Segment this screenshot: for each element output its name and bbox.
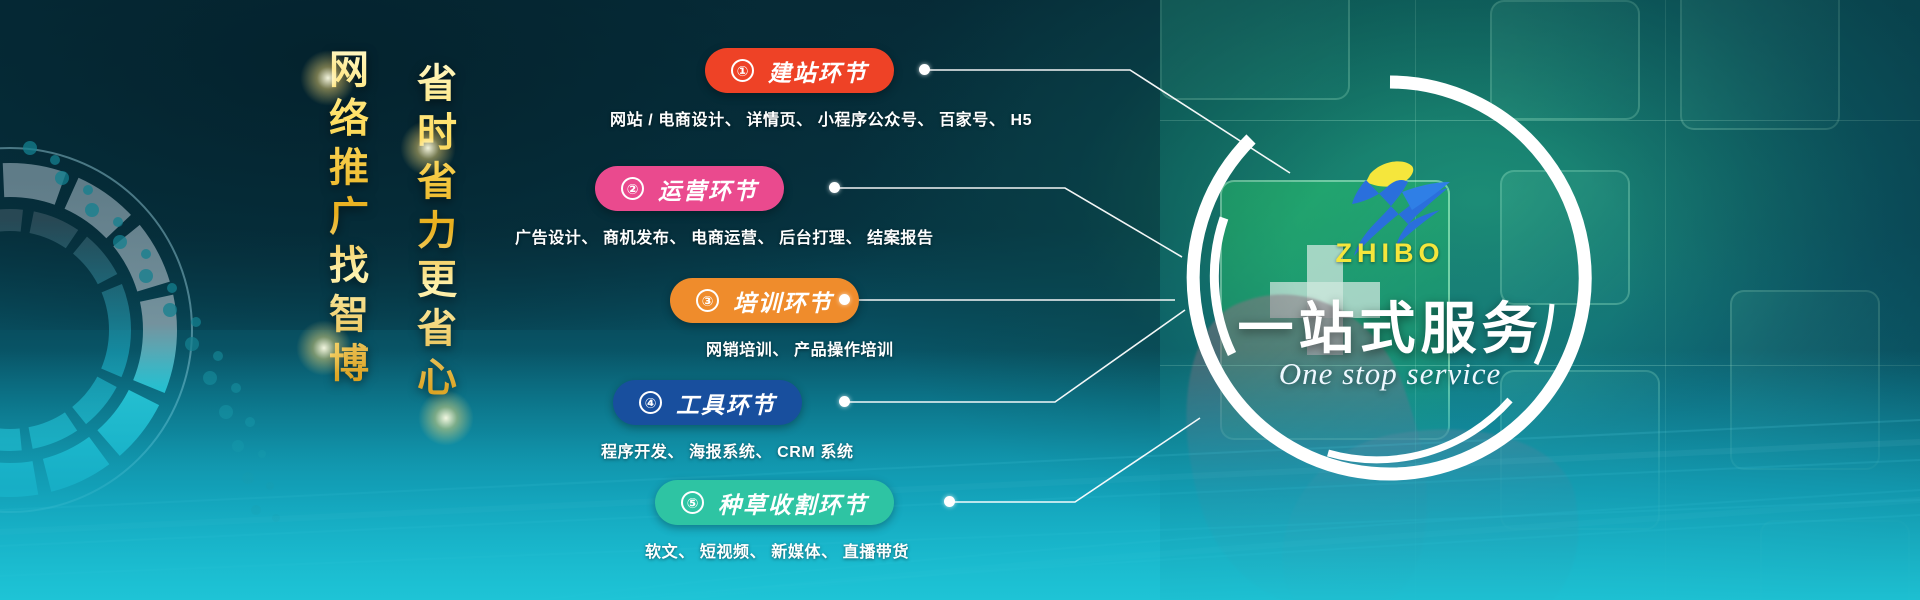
brand-text: ZHIBO — [1180, 238, 1600, 269]
step-badge-4[interactable]: ④ 工具环节 — [613, 380, 802, 425]
steps-stage: ① 建站环节 网站 / 电商设计、 详情页、 小程序公众号、 百家号、 H5 ②… — [0, 0, 1920, 600]
step-label-1: 建站环节 — [768, 54, 868, 88]
step-label-3: 培训环节 — [733, 284, 833, 318]
step-sub-2: 广告设计、 商机发布、 电商运营、 后台打理、 结案报告 — [515, 224, 934, 248]
step-item-3[interactable]: ③ 培训环节 网销培训、 产品操作培训 — [670, 278, 894, 360]
step-sub-5: 软文、 短视频、 新媒体、 直播带货 — [645, 538, 909, 562]
hub-title-en: One stop service — [1180, 356, 1600, 392]
step-item-4[interactable]: ④ 工具环节 程序开发、 海报系统、 CRM 系统 — [613, 380, 854, 462]
step-number-3: ③ — [696, 289, 719, 312]
step-sub-1: 网站 / 电商设计、 详情页、 小程序公众号、 百家号、 H5 — [610, 106, 1032, 130]
step-sub-4: 程序开发、 海报系统、 CRM 系统 — [601, 438, 854, 462]
connector-dot-5 — [944, 496, 955, 507]
step-label-2: 运营环节 — [658, 172, 758, 206]
step-badge-2[interactable]: ② 运营环节 — [595, 166, 784, 211]
connector-dot-1 — [919, 64, 930, 75]
hub-ring — [1180, 68, 1600, 488]
step-number-5: ⑤ — [681, 491, 704, 514]
connector-dot-4 — [839, 396, 850, 407]
hub-title-cn: 一站式服务 — [1180, 284, 1600, 365]
step-number-4: ④ — [639, 391, 662, 414]
step-item-5[interactable]: ⑤ 种草收割环节 软文、 短视频、 新媒体、 直播带货 — [655, 480, 909, 562]
step-label-5: 种草收割环节 — [718, 486, 868, 520]
step-number-2: ② — [621, 177, 644, 200]
step-sub-3: 网销培训、 产品操作培训 — [706, 336, 894, 360]
step-badge-5[interactable]: ⑤ 种草收割环节 — [655, 480, 894, 525]
connector-dot-2 — [829, 182, 840, 193]
step-item-1[interactable]: ① 建站环节 网站 / 电商设计、 详情页、 小程序公众号、 百家号、 H5 — [705, 48, 1032, 130]
promo-banner: 网络推广找智博 省时省力更省心 ① 建站环节 网站 / 电商设计、 详情页、 小… — [0, 0, 1920, 600]
connector-dot-3 — [839, 294, 850, 305]
step-badge-1[interactable]: ① 建站环节 — [705, 48, 894, 93]
step-badge-3[interactable]: ③ 培训环节 — [670, 278, 859, 323]
step-item-2[interactable]: ② 运营环节 广告设计、 商机发布、 电商运营、 后台打理、 结案报告 — [595, 166, 934, 248]
step-label-4: 工具环节 — [676, 386, 776, 420]
step-number-1: ① — [731, 59, 754, 82]
